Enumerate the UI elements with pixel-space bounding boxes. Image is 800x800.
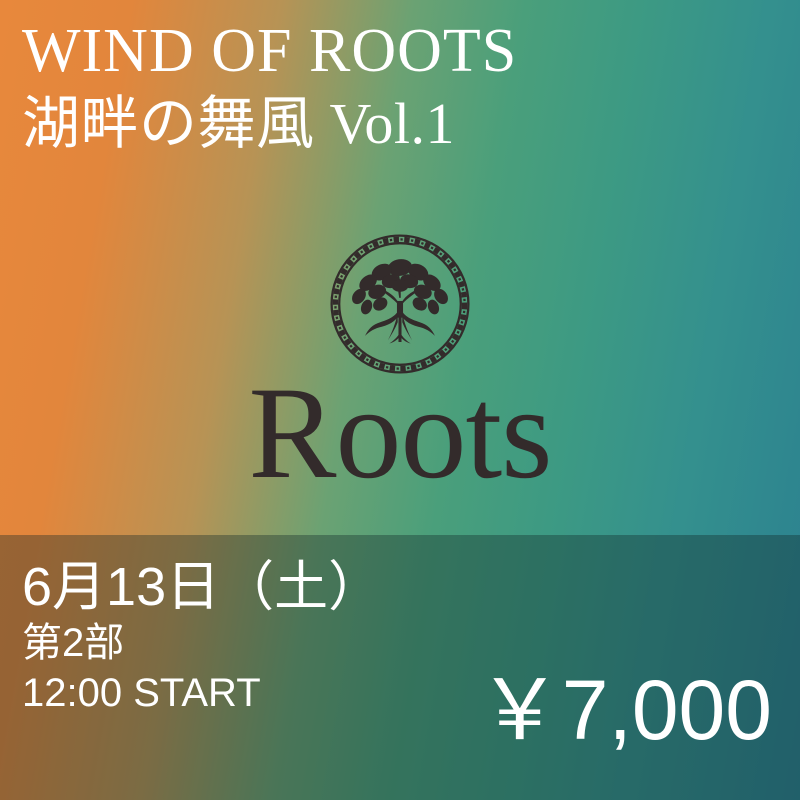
page-subtitle: 湖畔の舞風 Vol.1 xyxy=(22,88,780,160)
header: WIND OF ROOTS 湖畔の舞風 Vol.1 xyxy=(22,14,780,160)
event-flyer: WIND OF ROOTS 湖畔の舞風 Vol.1 xyxy=(0,0,800,800)
logo-block: Roots xyxy=(0,228,800,492)
page-title: WIND OF ROOTS xyxy=(22,14,780,88)
logo-wordmark: Roots xyxy=(0,374,800,492)
tree-of-life-icon xyxy=(324,228,476,380)
ticket-price: ￥7,000 xyxy=(478,662,772,758)
event-start-time: 12:00 START xyxy=(22,668,492,718)
event-details: 6月13日（土） 第2部 12:00 START xyxy=(22,556,492,718)
event-part: 第2部 xyxy=(22,618,492,668)
event-date: 6月13日（土） xyxy=(22,556,492,618)
